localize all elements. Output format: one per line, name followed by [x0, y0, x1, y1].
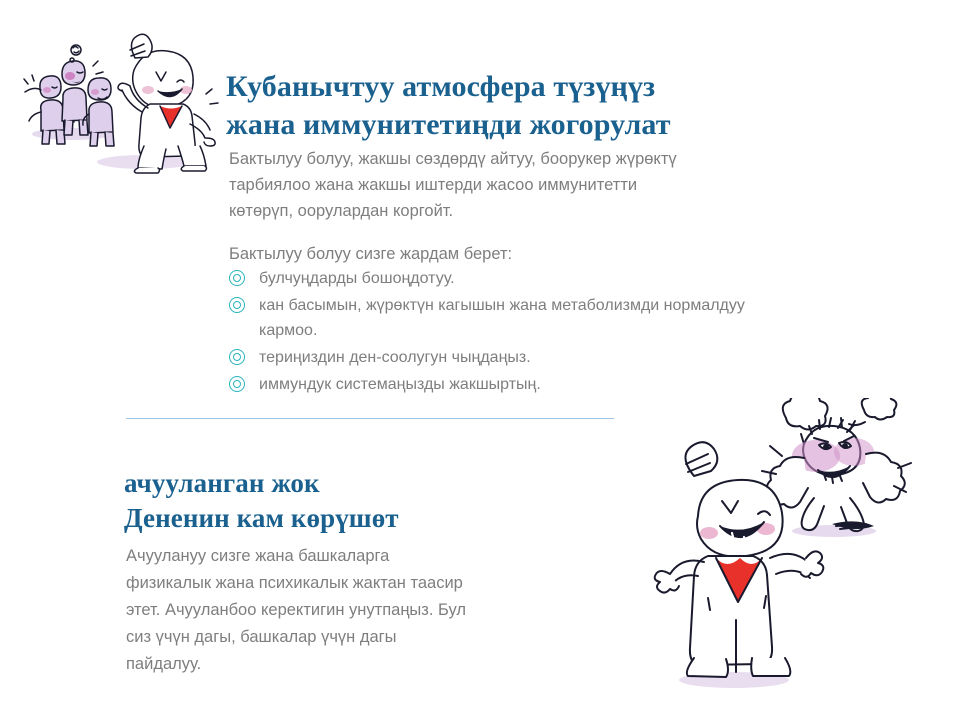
page-title-line-1: Кубанычтуу атмосфера түзүңүз — [226, 68, 866, 106]
section-two-title-line-2: Дененин кам көрүшөт — [124, 501, 644, 536]
page-title-line-2: жана иммунитетиңди жогорулат — [226, 106, 866, 144]
intro-paragraph: Бактылуу болуу, жакшы сөздөрдү айтуу, бо… — [229, 146, 929, 224]
double-circle-bullet-icon — [229, 297, 245, 313]
list-item: териңиздин ден-соолугун чыңдаңыз. — [229, 345, 929, 370]
page-title: Кубанычтуу атмосфера түзүңүз жана иммуни… — [226, 68, 866, 144]
list-item-line: териңиздин ден-соолугун чыңдаңыз. — [259, 345, 929, 370]
intro-paragraph-line-1: Бактылуу болуу, жакшы сөздөрдү айтуу, бо… — [229, 146, 929, 172]
list-item: иммундук системаңызды жакшыртың. — [229, 372, 929, 397]
list-item-line: булчуңдарды бошоңдотуу. — [259, 266, 929, 291]
anger-paragraph-line-2: физикалык жана психикалык жактан таасир — [126, 570, 666, 597]
anger-paragraph-line-1: Ачуулануу сизге жана башкаларга — [126, 543, 666, 570]
anger-paragraph-line-3: этет. Ачууланбоо керектигин унутпаңыз. Б… — [126, 597, 666, 624]
double-circle-bullet-icon — [229, 349, 245, 365]
anger-paragraph-line-4: сиз үчүн дагы, башкалар үчүн дагы — [126, 624, 666, 651]
section-two-title-line-1: ачууланган жок — [124, 466, 644, 501]
list-item: кан басымын, жүрөктүн кагышын жана метаб… — [229, 293, 929, 343]
list-item-text: иммундук системаңызды жакшыртың. — [259, 372, 929, 397]
list-item-line: иммундук системаңызды жакшыртың. — [259, 372, 929, 397]
anger-paragraph-line-5: пайдалуу. — [126, 651, 666, 678]
slide-canvas: Кубанычтуу атмосфера түзүңүз жана иммуни… — [0, 0, 960, 720]
benefits-list-lead-text: Бактылуу болуу сизге жардам берет: — [229, 241, 929, 267]
list-item-text: булчуңдарды бошоңдотуу. — [259, 266, 929, 291]
happy-child-with-crowd-illustration — [10, 28, 222, 174]
double-circle-bullet-icon — [229, 270, 245, 286]
happy-child-and-angry-figure-illustration — [636, 398, 954, 716]
double-circle-bullet-icon — [229, 376, 245, 392]
section-two-title: ачууланган жок Дененин кам көрүшөт — [124, 466, 644, 536]
benefits-bullet-list: булчуңдарды бошоңдотуу. кан басымын, жүр… — [229, 266, 929, 399]
list-item-text: териңиздин ден-соолугун чыңдаңыз. — [259, 345, 929, 370]
list-item-text: кан басымын, жүрөктүн кагышын жана метаб… — [259, 293, 929, 343]
list-item-line: кан басымын, жүрөктүн кагышын жана метаб… — [259, 293, 929, 318]
anger-paragraph: Ачуулануу сизге жана башкаларга физикалы… — [126, 543, 666, 678]
list-item-line: кармоо. — [259, 318, 929, 343]
section-divider — [126, 418, 614, 419]
benefits-list-lead: Бактылуу болуу сизге жардам берет: — [229, 241, 929, 267]
intro-paragraph-line-2: тарбиялоо жана жакшы иштерди жасоо иммун… — [229, 172, 929, 198]
intro-paragraph-line-3: көтөрүп, оорулардан коргойт. — [229, 198, 929, 224]
list-item: булчуңдарды бошоңдотуу. — [229, 266, 929, 291]
